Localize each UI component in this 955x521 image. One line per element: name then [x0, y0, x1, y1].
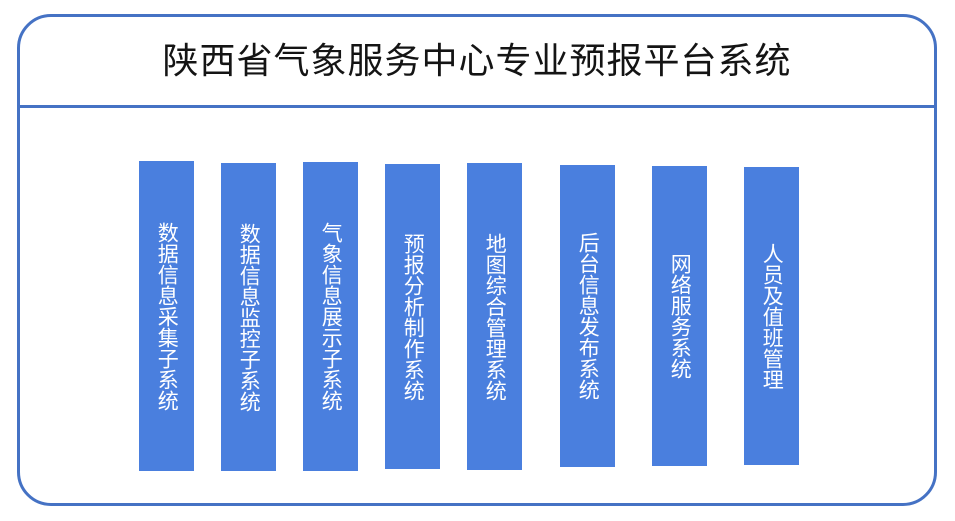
module-label: 数据信息监控子系统	[238, 223, 259, 412]
module-box[interactable]: 气象信息展示子系统	[303, 162, 358, 471]
module-box[interactable]: 地图综合管理系统	[467, 163, 522, 470]
module-label: 人员及值班管理	[761, 243, 782, 390]
module-box[interactable]: 数据信息采集子系统	[139, 161, 194, 471]
module-box[interactable]: 后台信息发布系统	[560, 165, 615, 467]
module-row: 数据信息采集子系统 数据信息监控子系统 气象信息展示子系统 预报分析制作系统 地…	[20, 108, 934, 503]
diagram-canvas: 陕西省气象服务中心专业预报平台系统 数据信息采集子系统 数据信息监控子系统 气象…	[0, 0, 955, 521]
module-box[interactable]: 人员及值班管理	[744, 167, 799, 465]
module-box[interactable]: 数据信息监控子系统	[221, 163, 276, 471]
module-label: 网络服务系统	[669, 253, 690, 379]
system-frame: 陕西省气象服务中心专业预报平台系统 数据信息采集子系统 数据信息监控子系统 气象…	[17, 14, 937, 506]
module-label: 后台信息发布系统	[577, 232, 598, 400]
module-label: 数据信息采集子系统	[156, 222, 177, 411]
page-title: 陕西省气象服务中心专业预报平台系统	[162, 42, 791, 82]
title-band: 陕西省气象服务中心专业预报平台系统	[20, 17, 934, 106]
module-label: 气象信息展示子系统	[320, 222, 341, 411]
module-label: 预报分析制作系统	[402, 233, 423, 401]
module-label: 地图综合管理系统	[484, 233, 505, 401]
module-box[interactable]: 预报分析制作系统	[385, 164, 440, 469]
module-box[interactable]: 网络服务系统	[652, 166, 707, 466]
